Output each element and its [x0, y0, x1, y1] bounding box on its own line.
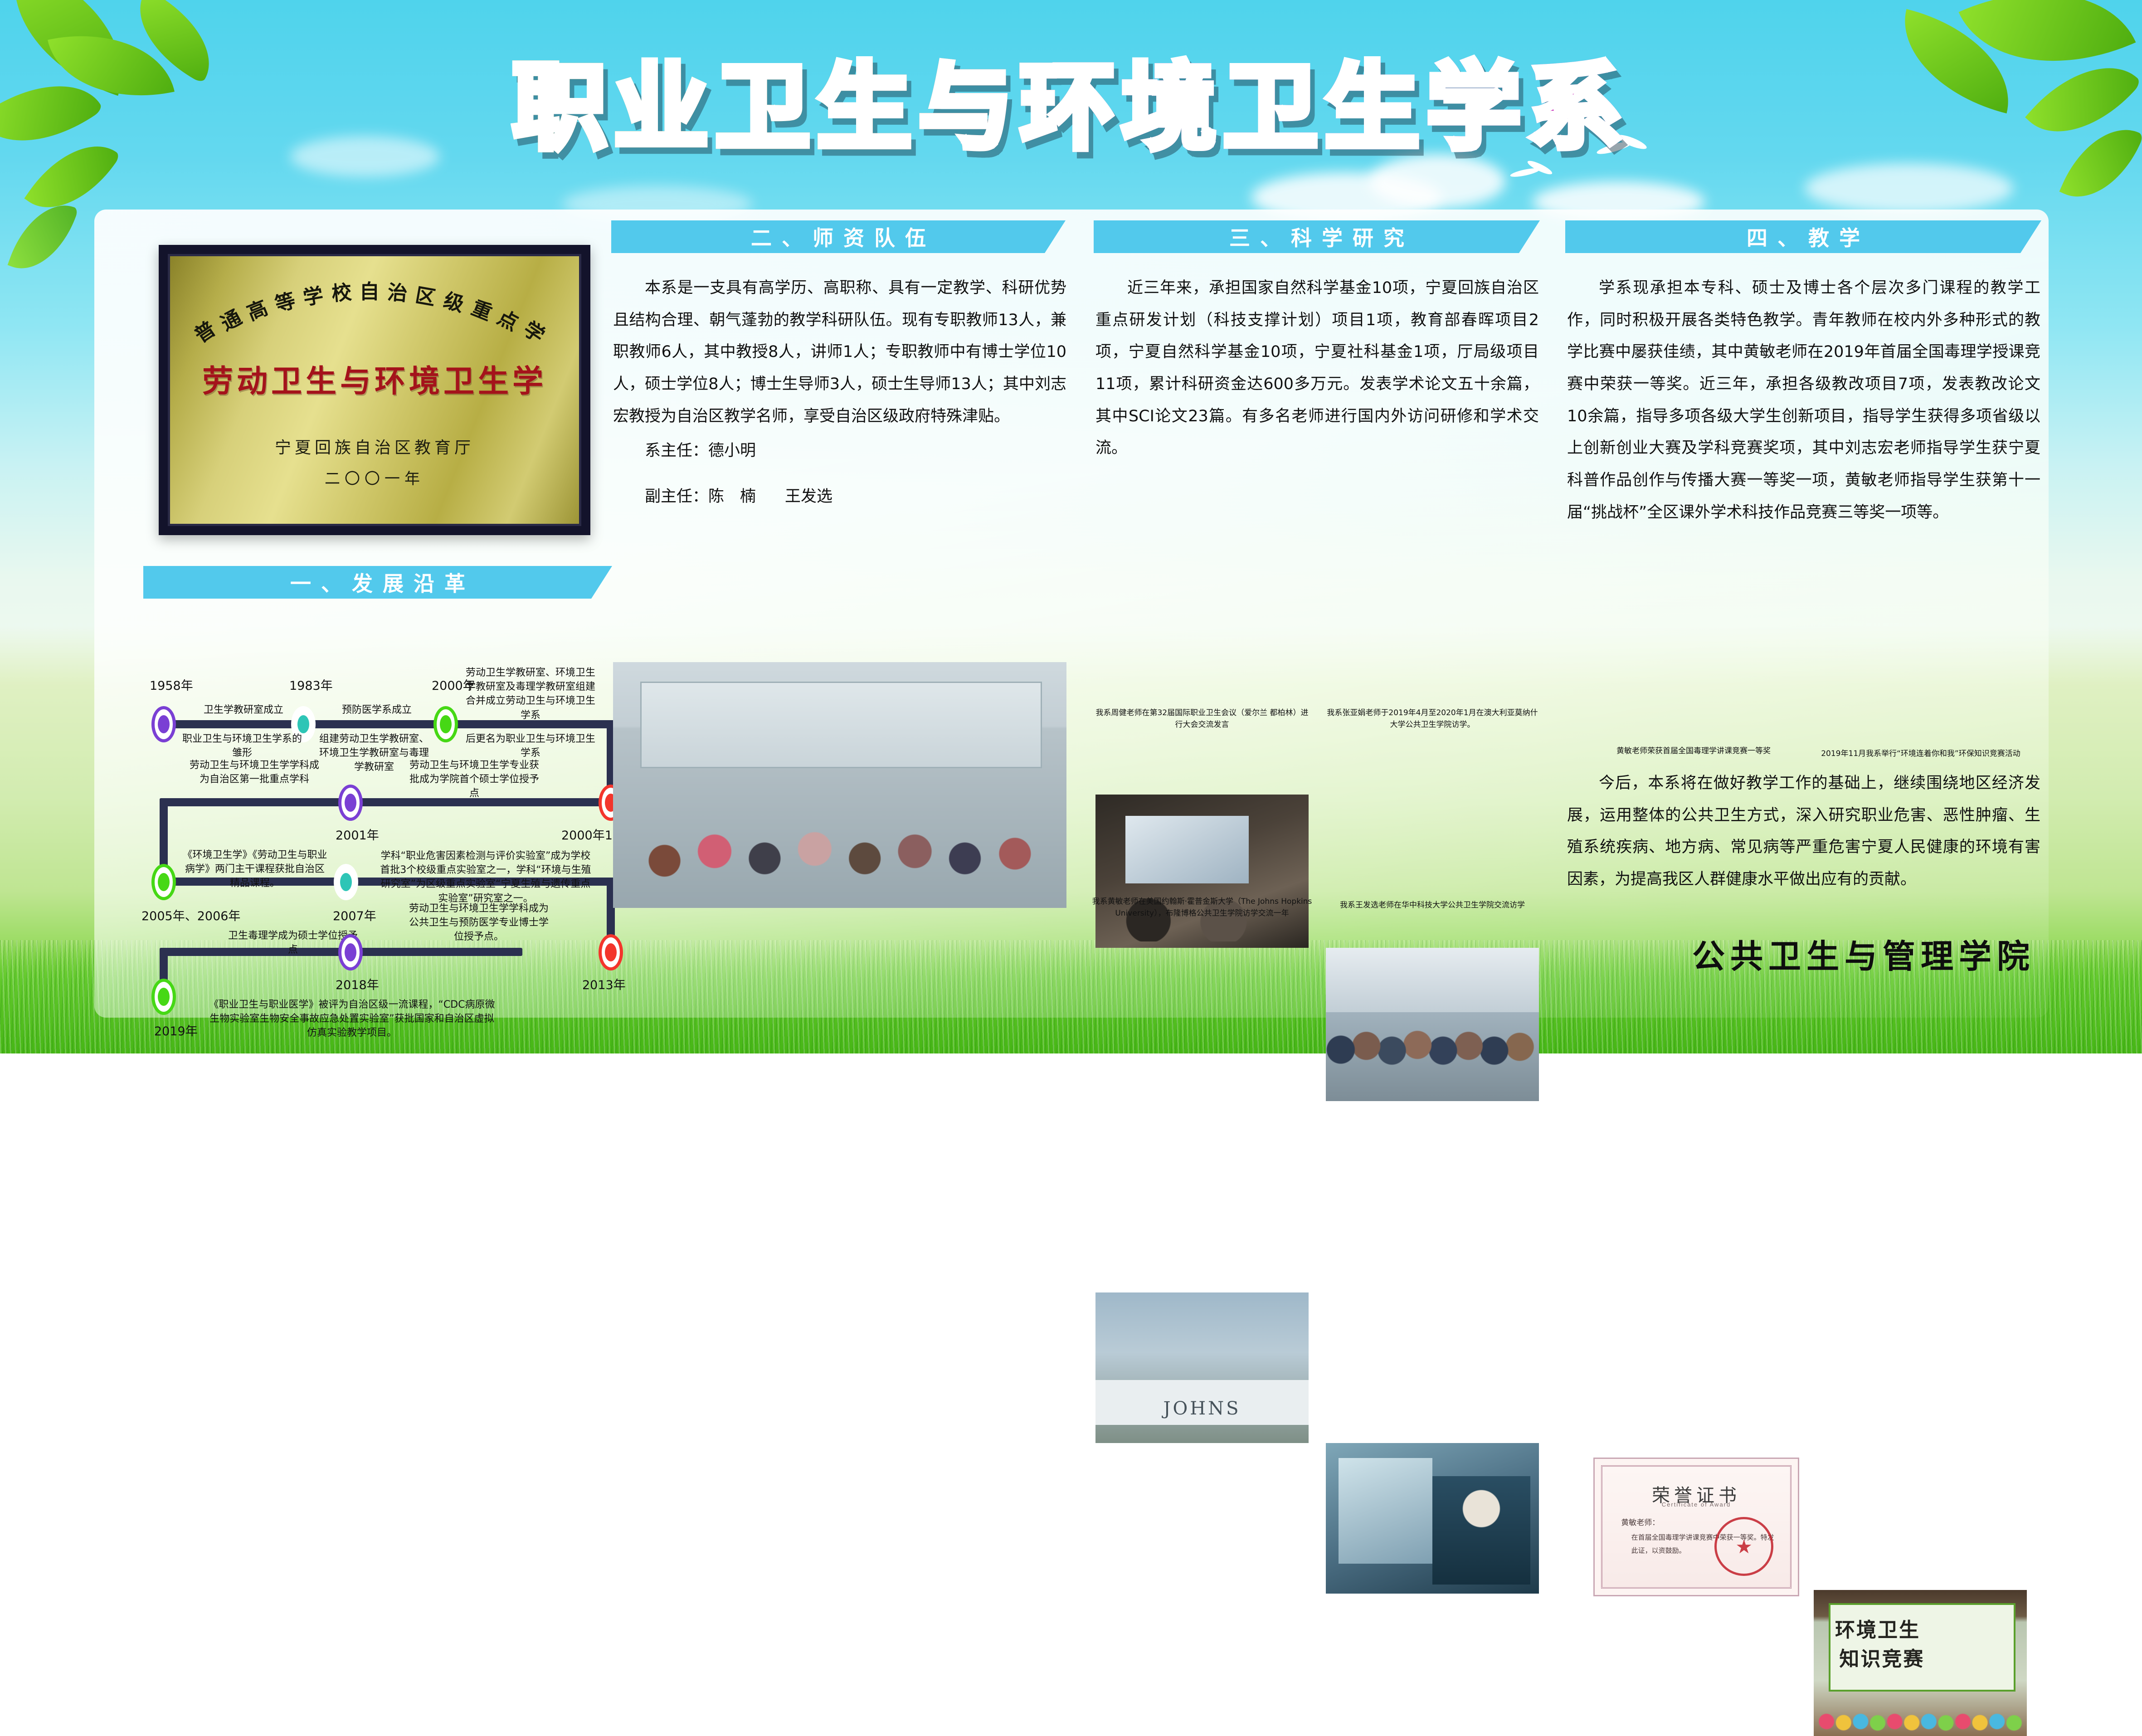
- timeline-caption-2000-below: 后更名为职业卫生与环境卫生学系: [462, 732, 599, 760]
- teaching-photo-certificate: 荣誉证书 Certificate of Award 黄敏老师： 在首届全国毒理学…: [1593, 1458, 1799, 1596]
- timeline-year-1958: 1958年: [150, 676, 193, 693]
- timeline-year-2018: 2018年: [336, 975, 379, 993]
- timeline-caption-2005-2006-below: 《环境卫生学》《劳动卫生与职业病学》两门主干课程获批自治区精品课程。: [182, 848, 327, 891]
- timeline-year-2013: 2013年: [582, 975, 626, 993]
- timeline-node-2013: [599, 934, 623, 970]
- bird-decoration-2: [1510, 163, 1555, 187]
- research-body: 近三年来，承担国家自然科学基金10项，宁夏回族自治区重点研发计划（科技支撑计划）…: [1095, 272, 1539, 467]
- timeline-caption-2013-above: 劳动卫生与环境卫生学学科成为公共卫生与预防医学专业博士学位授予点。: [406, 902, 551, 944]
- research-photo-hust: [1326, 1443, 1539, 1594]
- faculty-director-name: 德小明: [708, 442, 756, 460]
- faculty-body: 本系是一支具有高学历、高职称、具有一定教学、科研优势且结构合理、朝气蓬勃的教学科…: [613, 272, 1066, 516]
- research-caption-monash: 我系张亚娟老师于2019年4月至2020年1月在澳大利亚莫纳什大学公共卫生学院访…: [1326, 707, 1539, 731]
- research-caption-hust: 我系王发选老师在华中科技大学公共卫生学院交流访学: [1326, 900, 1539, 912]
- faculty-deputy-label: 副主任：: [645, 488, 708, 506]
- timeline-year-2007: 2007年: [333, 906, 376, 924]
- timeline-bar-row2: [160, 798, 615, 806]
- faculty-director-line: 系主任：德小明: [613, 435, 1066, 467]
- timeline-year-2001: 2001年: [336, 825, 379, 843]
- timeline-caption-2018-below: 《职业卫生与职业医学》被评为自治区级一流课程，“CDC病原微生物实验室生物安全事…: [207, 998, 497, 1040]
- quiz-screen-line1: 环境卫生: [1835, 1614, 1920, 1643]
- plaque-year: 二〇〇一年: [325, 466, 424, 488]
- faculty-deputy-name-2: 王发选: [785, 488, 832, 506]
- faculty-group-photo: [613, 662, 1066, 908]
- research-caption-johns-hopkins: 我系黄敏老师在美国约翰斯·霍普金斯大学（The Johns Hopkins Un…: [1091, 896, 1313, 919]
- plaque-org: 宁夏回族自治区教育厅: [275, 434, 474, 458]
- banner-teaching: 四、教学: [1565, 220, 2041, 253]
- banner-research: 三、科学研究: [1094, 220, 1540, 253]
- certificate-recipient: 黄敏老师：: [1621, 1516, 1660, 1527]
- timeline-caption-2001-above: 劳动卫生与环境卫生学学科成为自治区第一批重点学科: [189, 758, 320, 786]
- faculty-paragraph: 本系是一支具有高学历、高职称、具有一定教学、科研优势且结构合理、朝气蓬勃的教学科…: [613, 272, 1066, 432]
- johns-hopkins-sign-text: JOHNS: [1095, 1398, 1309, 1419]
- quiz-balloons-decoration: [1814, 1710, 2027, 1733]
- timeline-node-2000: [433, 706, 458, 742]
- research-photo-monash: [1326, 948, 1539, 1101]
- teaching-caption-quiz: 2019年11月我系举行“环境连着你和我”环保知识竞赛活动: [1807, 748, 2034, 760]
- timeline-node-1958: [151, 706, 176, 742]
- certificate-seal-icon: ★: [1714, 1517, 1773, 1576]
- timeline-caption-2000-above: 劳动卫生学教研室、环境卫生学教研室及毒理学教研室组建合并成立劳动卫生与环境卫生学…: [462, 666, 599, 722]
- banner-faculty: 二、师资队伍: [611, 220, 1066, 253]
- timeline-node-2019: [151, 979, 176, 1015]
- history-timeline: 1958年 1983年 2000年 卫生学教研室成立 职业卫生与环境卫生学系的雏…: [143, 630, 615, 993]
- faculty-director-label: 系主任：: [645, 442, 708, 460]
- timeline-caption-2000-12-above: 劳动卫生与环境卫生学专业获批成为学院首个硕士学位授予点: [406, 758, 542, 801]
- teaching-closing-body: 今后，本系将在做好教学工作的基础上，继续围绕地区经济发展，运用整体的公共卫生方式…: [1567, 767, 2040, 898]
- timeline-year-2005-2006: 2005年、2006年: [141, 906, 240, 924]
- poster-title: 职业卫生与环境卫生学系: [512, 58, 1630, 158]
- timeline-node-2005-2006: [151, 864, 176, 900]
- timeline-year-1983: 1983年: [289, 676, 333, 693]
- banner-history: 一、发展沿革: [143, 566, 612, 599]
- teaching-photo-quiz: 环境卫生 知识竞赛: [1814, 1590, 2027, 1736]
- poster-title-wrap: 职业卫生与环境卫生学系: [0, 58, 2142, 158]
- teaching-closing-paragraph: 今后，本系将在做好教学工作的基础上，继续围绕地区经济发展，运用整体的公共卫生方式…: [1567, 767, 2040, 896]
- teaching-body: 学系现承担本专科、硕士及博士各个层次多门课程的教学工作，同时积极开展各类特色教学…: [1567, 272, 2040, 532]
- teaching-paragraph: 学系现承担本专科、硕士及博士各个层次多门课程的教学工作，同时积极开展各类特色教学…: [1567, 272, 2040, 529]
- research-photo-johns-hopkins: JOHNS: [1095, 1292, 1309, 1443]
- key-discipline-plaque: 普 通 高 等 学 校 自 治 区 级 重 点 学 劳动卫生与环境卫生学 宁夏回…: [159, 245, 590, 535]
- faculty-deputy-name-1: 陈 楠: [708, 488, 756, 506]
- plaque-main-text: 劳动卫生与环境卫生学: [202, 356, 547, 401]
- teaching-caption-certificate: 黄敏老师荣获首届全国毒理学讲课竞赛一等奖: [1587, 746, 1800, 757]
- faculty-deputy-line: 副主任：陈 楠王发选: [613, 481, 1066, 513]
- research-caption-dublin: 我系周健老师在第32届国际职业卫生会议（爱尔兰 都柏林）进行大会交流发言: [1095, 707, 1309, 731]
- college-signature: 公共卫生与管理学院: [1692, 930, 2035, 977]
- research-photo-dublin: [1095, 795, 1309, 948]
- certificate-subtitle: Certificate of Award: [1595, 1501, 1798, 1508]
- timeline-year-2019: 2019年: [154, 1021, 198, 1039]
- research-paragraph: 近三年来，承担国家自然科学基金10项，宁夏回族自治区重点研发计划（科技支撑计划）…: [1095, 272, 1539, 464]
- quiz-screen-line2: 知识竞赛: [1839, 1643, 1924, 1672]
- timeline-node-2018: [338, 934, 363, 970]
- timeline-caption-1983-above: 预防医学系成立: [325, 703, 429, 717]
- timeline-caption-1958-below: 职业卫生与环境卫生学系的雏形: [179, 732, 306, 760]
- timeline-node-2001: [338, 785, 363, 821]
- plaque-arc-text: 普 通 高 等 学 校 自 治 区 级 重 点 学: [186, 273, 563, 350]
- timeline-caption-2001-below: 学科“职业危害因素检测与评价实验室”成为学校首批3个校级重点实验室之一，学科“环…: [379, 849, 592, 906]
- timeline-node-2007: [334, 864, 358, 900]
- timeline-caption-1958-above: 卫生学教研室成立: [187, 703, 300, 717]
